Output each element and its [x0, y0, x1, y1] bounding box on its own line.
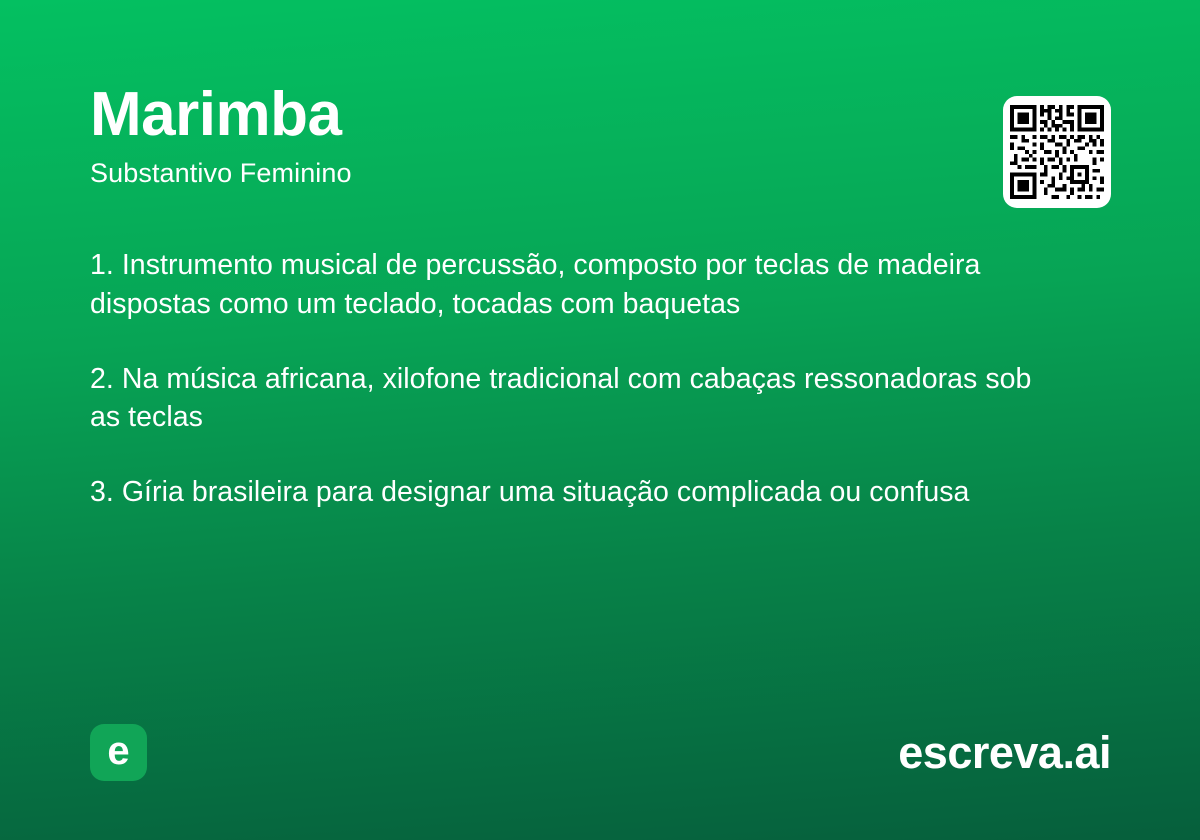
- definition-list: 1. Instrumento musical de percussão, com…: [90, 246, 1050, 512]
- card-footer: e escreva.ai: [90, 723, 1111, 781]
- dictionary-card: Marimba Substantivo Feminino: [0, 0, 1200, 840]
- page-title: Marimba: [90, 84, 1110, 146]
- qr-code-icon: [1010, 105, 1104, 199]
- brand-name: escreva.ai: [898, 730, 1111, 775]
- brand-logo-letter: e: [107, 731, 129, 771]
- word-class-label: Substantivo Feminino: [90, 160, 1110, 187]
- list-item: 2. Na música africana, xilofone tradicio…: [90, 360, 1050, 438]
- qr-code[interactable]: [1003, 96, 1111, 208]
- card-header: Marimba Substantivo Feminino: [90, 84, 1110, 187]
- list-item: 1. Instrumento musical de percussão, com…: [90, 246, 1050, 324]
- brand-logo-icon: e: [90, 724, 147, 781]
- list-item: 3. Gíria brasileira para designar uma si…: [90, 473, 1050, 512]
